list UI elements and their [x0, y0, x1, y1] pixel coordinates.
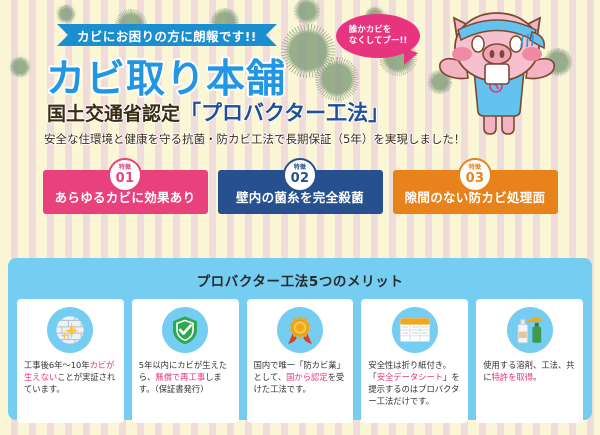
spray-bottles-icon	[507, 307, 553, 353]
merit-highlight-text: 無償で再工事	[155, 372, 205, 382]
feature-badge-number: 01	[116, 172, 135, 185]
feature-card-02[interactable]: 特徴02壁内の菌糸を完全殺菌	[218, 170, 383, 214]
feature-cards: 特徴01あらゆるカビに効果あり特徴02壁内の菌糸を完全殺菌特徴03隙間のない防カ…	[0, 170, 600, 214]
feature-badge-number: 02	[291, 172, 310, 185]
headline-ribbon: カビにお困りの方に朗報です!!	[57, 24, 277, 46]
promo-landing-page: カビにお困りの方に朗報です!! カビ取り本舗 国土交通省認定「プロバクター工法」…	[0, 0, 600, 435]
feature-badge-number: 03	[466, 172, 485, 185]
mold-spot-icon	[60, 8, 72, 20]
feature-card-01[interactable]: 特徴01あらゆるカビに効果あり	[43, 170, 208, 214]
merits-title: プロバクター工法5つのメリット	[8, 258, 592, 290]
merit-highlight-text: 安全データシート	[377, 372, 443, 382]
merit-card[interactable]: 国内で唯一「防カビ業」として、国から認定を受けた工法です。	[247, 299, 354, 423]
certification-label: 国土交通省認定	[47, 103, 180, 125]
merit-cards-row: 工事後6年〜10年カビが生えないことが実証されています。5年以内にカビが生えたら…	[8, 290, 592, 423]
pig-mascot-icon	[432, 2, 562, 152]
award-medal-icon	[277, 307, 323, 353]
feature-badge: 特徴01	[108, 158, 142, 192]
shield-check-icon	[162, 307, 208, 353]
merit-card-text: 安全性は折り紙付き。「安全データシート」を提示するのはプロバクター工法だけです。	[368, 359, 461, 407]
merit-plain-text: 。	[533, 372, 541, 382]
merit-highlight-text: 国から認定	[286, 372, 328, 382]
merit-card-text: 国内で唯一「防カビ業」として、国から認定を受けた工法です。	[254, 359, 347, 395]
certification-line: 国土交通省認定「プロバクター工法」	[47, 97, 389, 127]
speech-bubble-tail	[404, 48, 418, 65]
mold-spot-icon	[13, 60, 27, 74]
feature-badge: 特徴02	[283, 158, 317, 192]
merit-card-text: 5年以内にカビが生えたら、無償で再工事します。（保証書発行）	[139, 359, 232, 395]
method-name: 「プロバクター工法」	[180, 101, 389, 125]
hero-description: 安全な住環境と健康を守る抗菌・防カビ工法で長期保証（5年）を実現しました！	[44, 131, 465, 147]
merit-card[interactable]: 工事後6年〜10年カビが生えないことが実証されています。	[17, 299, 124, 423]
merit-card-text: 使用する溶剤、工法、共に特許を取得。	[483, 359, 576, 383]
merit-card-text: 工事後6年〜10年カビが生えないことが実証されています。	[24, 359, 117, 395]
data-sheet-icon	[392, 307, 438, 353]
mold-spot-icon	[298, 2, 316, 20]
headline-ribbon-text: カビにお困りの方に朗報です!!	[77, 26, 257, 45]
merits-panel: プロバクター工法5つのメリット 工事後6年〜10年カビが生えないことが実証されて…	[8, 258, 592, 420]
mold-spot-icon	[322, 64, 352, 94]
mascot-speech-text: 誰かカビを なくしてブー!!	[349, 25, 408, 48]
merit-highlight-text: 特許を取得	[492, 372, 534, 382]
feature-badge: 特徴03	[458, 158, 492, 192]
feature-card-03[interactable]: 特徴03隙間のない防カビ処理面	[393, 170, 558, 214]
brick-wall-sparkle-icon	[47, 307, 93, 353]
merit-card[interactable]: 安全性は折り紙付き。「安全データシート」を提示するのはプロバクター工法だけです。	[361, 299, 468, 423]
page-title: カビ取り本舗	[46, 48, 286, 104]
merit-card[interactable]: 使用する溶剤、工法、共に特許を取得。	[476, 299, 583, 423]
merit-plain-text: 工事後6年〜10年	[24, 360, 90, 370]
merit-card[interactable]: 5年以内にカビが生えたら、無償で再工事します。（保証書発行）	[132, 299, 239, 423]
